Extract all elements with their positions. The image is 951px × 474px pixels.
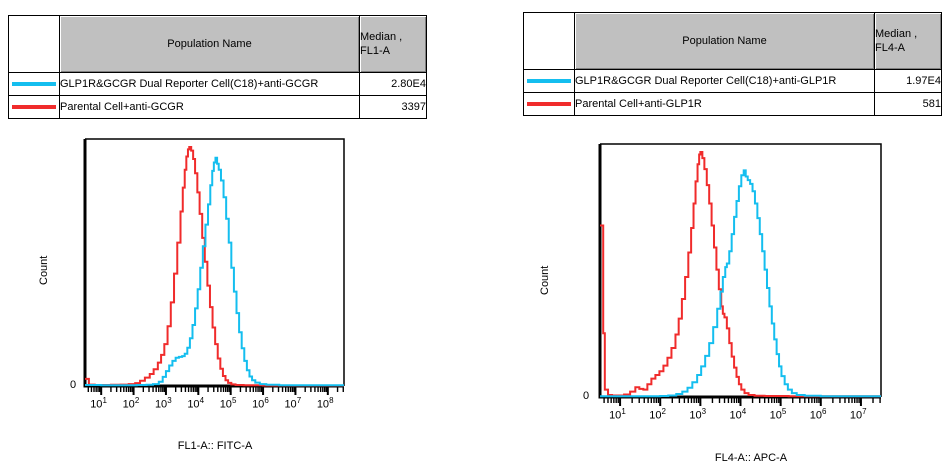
x-axis-tick-label: 104 [187, 396, 204, 411]
x-axis-tick-label: 107 [284, 396, 301, 411]
x-axis-tick-label: 101 [90, 396, 107, 411]
x-axis-tick-label: 108 [317, 396, 334, 411]
x-axis-tick-exponent: 7 [297, 396, 301, 405]
x-axis-tick-exponent: 8 [329, 396, 333, 405]
x-axis-tick-exponent: 6 [822, 407, 826, 416]
x-axis-tick-label: 101 [609, 407, 626, 422]
x-axis-tick-base: 10 [220, 399, 232, 411]
x-axis-tick-exponent: 7 [862, 407, 866, 416]
panel-right: Population Name Median , FL4-A GLP1R&GCG… [515, 0, 951, 474]
x-axis-tick-exponent: 1 [102, 396, 106, 405]
x-axis-tick-exponent: 5 [232, 396, 236, 405]
x-axis-tick-label: 102 [123, 396, 140, 411]
x-axis-title-right: FL4-A:: APC-A [571, 452, 931, 464]
x-axis-tick-exponent: 6 [264, 396, 268, 405]
x-axis-tick-exponent: 4 [200, 396, 204, 405]
x-axis-tick-base: 10 [609, 410, 621, 422]
x-axis-tick-exponent: 2 [661, 407, 665, 416]
x-axis-tick-label: 102 [649, 407, 666, 422]
x-axis-tick-base: 10 [649, 410, 661, 422]
x-axis-tick-exponent: 5 [782, 407, 786, 416]
x-axis-tick-label: 106 [810, 407, 827, 422]
x-axis-tick-base: 10 [730, 410, 742, 422]
x-axis-tick-label: 107 [850, 407, 867, 422]
x-axis-tick-base: 10 [689, 410, 701, 422]
histogram-plot-right: Count 0 FL4-A:: APC-A [515, 0, 951, 474]
x-axis-title-left: FL1-A:: FITC-A [85, 440, 345, 452]
x-axis-tick-base: 10 [284, 399, 296, 411]
x-axis-tick-base: 10 [850, 410, 862, 422]
x-axis-tick-exponent: 4 [742, 407, 746, 416]
x-axis-tick-base: 10 [252, 399, 264, 411]
x-axis-tick-base: 10 [317, 399, 329, 411]
panel-left: Population Name Median , FL1-A GLP1R&GCG… [0, 0, 470, 474]
x-axis-tick-label: 105 [220, 396, 237, 411]
x-axis-tick-base: 10 [90, 399, 102, 411]
x-axis-tick-base: 10 [123, 399, 135, 411]
x-axis-tick-base: 10 [810, 410, 822, 422]
x-axis-tick-label: 103 [155, 396, 172, 411]
x-axis-tick-exponent: 3 [702, 407, 706, 416]
x-axis-tick-label: 104 [730, 407, 747, 422]
x-axis-tick-exponent: 3 [167, 396, 171, 405]
x-axis-tick-label: 105 [770, 407, 787, 422]
x-axis-tick-base: 10 [770, 410, 782, 422]
x-axis-tick-label: 106 [252, 396, 269, 411]
x-axis-tick-exponent: 1 [621, 407, 625, 416]
x-axis-tick-exponent: 2 [135, 396, 139, 405]
x-axis-tick-base: 10 [155, 399, 167, 411]
x-axis-tick-label: 103 [689, 407, 706, 422]
x-axis-tick-base: 10 [187, 399, 199, 411]
